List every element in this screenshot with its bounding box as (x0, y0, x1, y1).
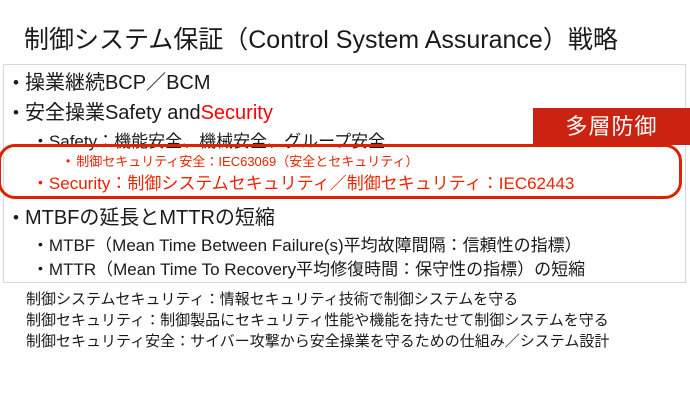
bullet-marker-icon: • (66, 155, 70, 167)
bullet-security-detail: • Security：制御システムセキュリティ／制御セキュリティ：IEC6244… (38, 173, 574, 194)
bullet-safe-operation-highlight: Security (201, 101, 273, 125)
bullet-marker-icon: • (38, 237, 43, 251)
note-line: 制御セキュリティ：制御製品にセキュリティ性能や機能を持たせて制御システムを守る (26, 310, 676, 331)
status-badge: 多層防御 (533, 108, 690, 145)
bullet-mttr-detail: • MTTR（Mean Time To Recovery平均修復時間：保守性の指… (38, 259, 585, 280)
bullet-mtbf-mttr: • MTBFの延長とMTTRの短縮 (13, 206, 275, 230)
bullet-safety-detail-label: Safety：機能安全、機械安全、グループ安全 (49, 131, 385, 152)
bullet-marker-icon: • (38, 133, 43, 147)
bullet-security-detail-label: Security：制御システムセキュリティ／制御セキュリティ：IEC62443 (49, 173, 574, 194)
page-title: 制御システム保証（Control System Assurance）戦略 (24, 24, 674, 56)
bullet-marker-icon: • (38, 261, 43, 275)
slide-root: 制御システム保証（Control System Assurance）戦略 • 操… (0, 0, 690, 400)
bullet-bcp: • 操業継続BCP／BCM (13, 71, 211, 95)
bullet-mtbf-detail-label: MTBF（Mean Time Between Failure(s)平均故障間隔：… (49, 235, 582, 256)
bullet-safe-operation: • 安全操業Safety and Security (13, 101, 273, 125)
bullet-safety-detail: • Safety：機能安全、機械安全、グループ安全 (38, 131, 385, 152)
bullet-mtbf-detail: • MTBF（Mean Time Between Failure(s)平均故障間… (38, 235, 582, 256)
note-line: 制御セキュリティ安全：サイバー攻撃から安全操業を守るための仕組み／システム設計 (26, 331, 676, 352)
bullet-mtbf-mttr-label: MTBFの延長とMTTRの短縮 (25, 206, 275, 230)
bullet-control-security-safety-label: 制御セキュリティ安全：IEC63069（安全とセキュリティ） (76, 153, 418, 170)
bullet-control-security-safety: • 制御セキュリティ安全：IEC63069（安全とセキュリティ） (66, 153, 418, 170)
note-line: 制御システムセキュリティ：情報セキュリティ技術で制御システムを守る (26, 289, 676, 310)
notes-block: 制御システムセキュリティ：情報セキュリティ技術で制御システムを守る 制御セキュリ… (26, 289, 676, 352)
bullet-safe-operation-label: 安全操業Safety and (25, 101, 201, 125)
bullet-marker-icon: • (38, 175, 43, 189)
bullet-marker-icon: • (13, 209, 19, 226)
content-box: • 操業継続BCP／BCM • 安全操業Safety and Security … (3, 64, 686, 283)
bullet-bcp-label: 操業継続BCP／BCM (25, 71, 211, 95)
bullet-marker-icon: • (13, 74, 19, 91)
bullet-mttr-detail-label: MTTR（Mean Time To Recovery平均修復時間：保守性の指標）… (49, 259, 585, 280)
bullet-marker-icon: • (13, 104, 19, 121)
